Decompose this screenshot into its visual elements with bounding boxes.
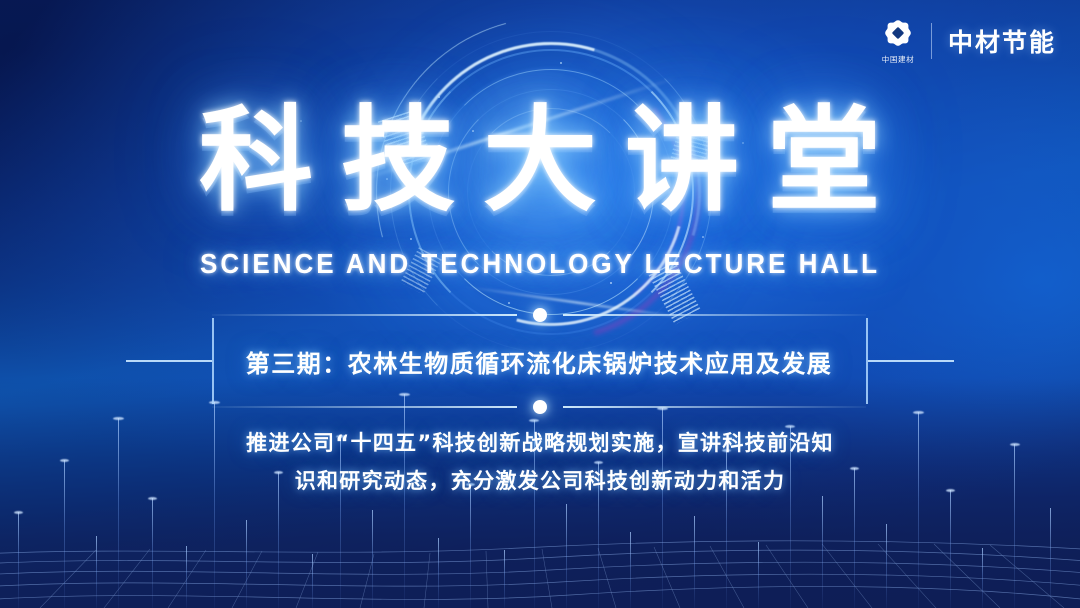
frame-right-arm: [868, 360, 954, 362]
frame-top-line-left: [212, 314, 517, 316]
description-line-1: 推进公司“十四五”科技创新战略规划实施，宣讲科技前沿知: [0, 424, 1080, 462]
page-title-en: SCIENCE AND TECHNOLOGY LECTURE HALL: [38, 250, 1042, 278]
page-title-cn: 科技大讲堂: [0, 104, 1080, 218]
brand-logo-bar: 中国建材 中材节能: [881, 16, 1056, 65]
session-frame: 第三期：农林生物质循环流化床锅炉技术应用及发展: [126, 318, 954, 404]
description-line-2: 识和研究动态，充分激发公司科技创新动力和活力: [0, 462, 1080, 500]
logo-divider: [931, 23, 932, 59]
session-title: 第三期：农林生物质循环流化床锅炉技术应用及发展: [212, 318, 866, 404]
brand-name: 中材节能: [948, 23, 1056, 59]
poster-stage: 中国建材 中材节能 科技大讲堂 SCIENCE AND TECHNOLOGY L…: [0, 0, 1080, 608]
logo-caption: 中国建材: [882, 54, 914, 65]
frame-left-arm: [126, 360, 212, 362]
flower-square-logo-icon: 中国建材: [881, 16, 915, 65]
frame-top-line-right: [563, 314, 866, 316]
frame-bottom-line-right: [563, 406, 866, 408]
description-block: 推进公司“十四五”科技创新战略规划实施，宣讲科技前沿知 识和研究动态，充分激发公…: [0, 424, 1080, 500]
frame-bottom-line-left: [212, 406, 517, 408]
